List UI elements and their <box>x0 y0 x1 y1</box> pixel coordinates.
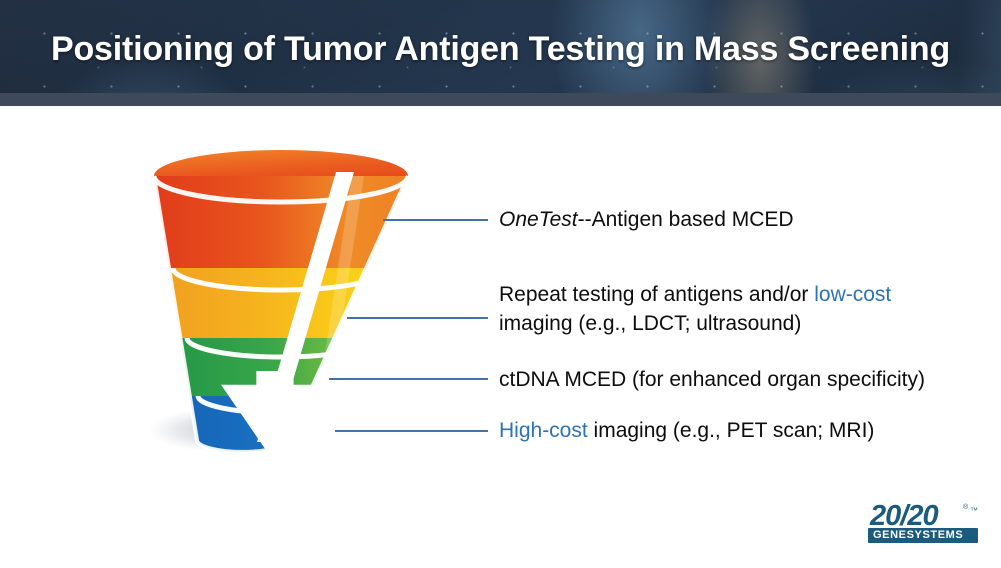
slide-canvas: Positioning of Tumor Antigen Testing in … <box>0 0 1001 568</box>
label-high-cost-highlight: High-cost <box>499 419 588 442</box>
label-repeat-testing-line1: Repeat testing of antigens and/or <box>499 283 814 306</box>
page-title: Positioning of Tumor Antigen Testing in … <box>0 30 1001 69</box>
label-onetest-rest: --Antigen based MCED <box>578 208 794 231</box>
label-high-cost-rest: imaging (e.g., PET scan; MRI) <box>588 419 875 442</box>
label-repeat-testing-highlight: low-cost <box>814 283 891 306</box>
label-onetest: OneTest--Antigen based MCED <box>499 205 794 234</box>
screening-funnel <box>140 142 430 487</box>
label-repeat-testing: Repeat testing of antigens and/or low-co… <box>499 280 979 338</box>
connector-line-3 <box>329 378 488 380</box>
logo-trademark-mark: ™ <box>970 505 984 543</box>
connector-line-1 <box>383 219 488 221</box>
connector-line-2 <box>347 317 488 319</box>
label-onetest-italic: OneTest <box>499 208 578 231</box>
connector-line-4 <box>335 430 488 432</box>
header-bottom-bar <box>0 93 1001 106</box>
logo-secondary-text: GENESYSTEMS <box>873 529 963 541</box>
label-ctdna-mced: ctDNA MCED (for enhanced organ specifici… <box>499 365 925 394</box>
company-logo: 20/20 ® GENESYSTEMS ™ <box>866 501 984 545</box>
label-repeat-testing-line2: imaging (e.g., LDCT; ultrasound) <box>499 312 801 335</box>
logo-registered-mark: ® <box>963 504 968 511</box>
label-high-cost-imaging: High-cost imaging (e.g., PET scan; MRI) <box>499 416 874 445</box>
